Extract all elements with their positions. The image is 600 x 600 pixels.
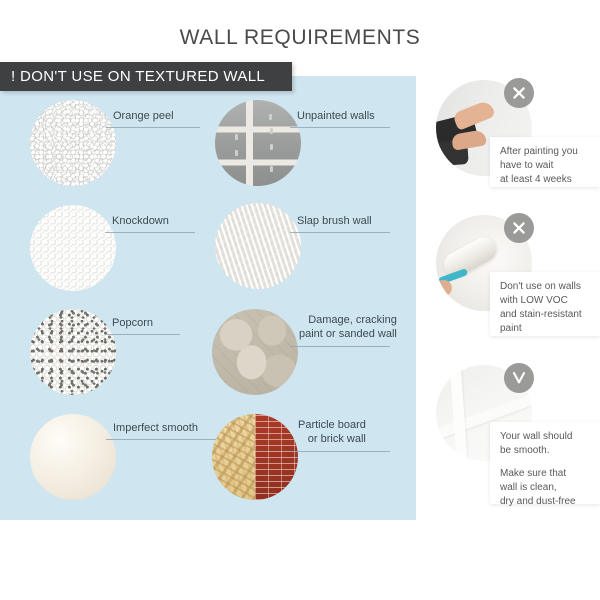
- texture-rule-popcorn: [105, 334, 180, 335]
- orange-peel-texture-icon: [30, 100, 116, 186]
- advice-item-wait-4-weeks: After painting you have to wait at least…: [436, 80, 600, 190]
- texture-label-damaged-wall: Damage, cracking paint or sanded wall: [299, 313, 397, 341]
- unpainted-wall-texture-icon: [215, 100, 301, 186]
- texture-label-particle-board: Particle board or brick wall: [298, 418, 366, 446]
- texture-item-orange-peel: [30, 100, 116, 186]
- texture-item-knockdown: [30, 205, 116, 291]
- warning-ribbon: ! DON'T USE ON TEXTURED WALL: [0, 62, 292, 91]
- texture-item-damaged-wall: [212, 309, 298, 395]
- cross-icon: [504, 78, 534, 108]
- advice-text: Don't use on walls with LOW VOC and stai…: [500, 280, 591, 336]
- popcorn-texture-icon: [30, 309, 116, 395]
- texture-item-popcorn: [30, 309, 116, 395]
- warning-ribbon-label: ! DON'T USE ON TEXTURED WALL: [11, 68, 265, 85]
- texture-rule-imperfect-smooth: [106, 439, 216, 440]
- texture-rule-orange-peel: [106, 127, 200, 128]
- slap-brush-texture-icon: [215, 203, 301, 289]
- cross-icon: [504, 213, 534, 243]
- texture-rule-unpainted-walls: [290, 127, 390, 128]
- texture-item-particle-board: [212, 414, 298, 500]
- knockdown-texture-icon: [30, 205, 116, 291]
- texture-label-popcorn: Popcorn: [112, 316, 153, 330]
- texture-label-slap-brush: Slap brush wall: [297, 214, 372, 228]
- infographic-root: WALL REQUIREMENTS ! DON'T USE ON TEXTURE…: [0, 0, 600, 600]
- texture-rule-damaged-wall: [290, 346, 390, 347]
- texture-label-orange-peel: Orange peel: [113, 109, 174, 123]
- advice-text: Make sure that wall is clean, dry and du…: [500, 467, 591, 509]
- advice-card-low-voc: Don't use on walls with LOW VOC and stai…: [490, 272, 600, 336]
- damaged-wall-texture-icon: [212, 309, 298, 395]
- advice-text: Your wall should be smooth.: [500, 430, 591, 458]
- texture-grid: Orange peel Unpainted walls Knockdown: [0, 76, 416, 520]
- texture-item-slap-brush: [215, 203, 301, 289]
- page-title: WALL REQUIREMENTS: [0, 26, 600, 50]
- texture-rule-knockdown: [105, 232, 195, 233]
- texture-item-imperfect-smooth: [30, 414, 116, 500]
- advice-item-low-voc: Don't use on walls with LOW VOC and stai…: [436, 215, 600, 333]
- texture-label-unpainted-walls: Unpainted walls: [297, 109, 375, 123]
- texture-label-knockdown: Knockdown: [112, 214, 169, 228]
- texture-item-unpainted-walls: [215, 100, 301, 186]
- particle-board-brick-texture-icon: [212, 414, 298, 500]
- advice-card-smooth-wall: Your wall should be smooth. Make sure th…: [490, 422, 600, 504]
- advice-item-smooth-wall: Your wall should be smooth. Make sure th…: [436, 365, 600, 515]
- imperfect-smooth-texture-icon: [30, 414, 116, 500]
- texture-label-imperfect-smooth: Imperfect smooth: [113, 421, 198, 435]
- check-icon: [504, 363, 534, 393]
- advice-text: After painting you have to wait at least…: [500, 145, 591, 187]
- advice-card-wait-4-weeks: After painting you have to wait at least…: [490, 137, 600, 187]
- texture-rule-particle-board: [290, 451, 390, 452]
- texture-rule-slap-brush: [290, 232, 390, 233]
